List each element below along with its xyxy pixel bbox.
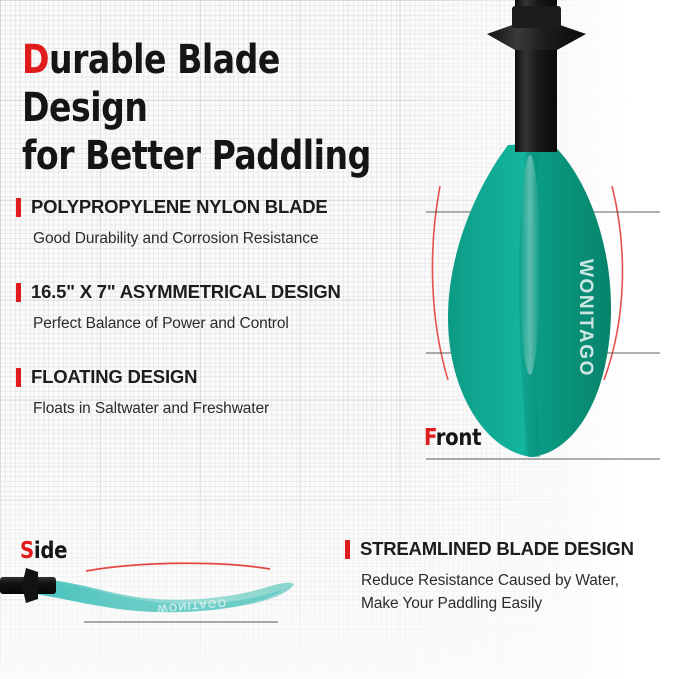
headline-line-1: urable Blade Design (22, 37, 280, 131)
front-label-rest: ront (436, 425, 481, 451)
side-measure-curve (86, 563, 270, 571)
red-bar-icon (16, 198, 21, 217)
feature-heading: 16.5" X 7" ASYMMETRICAL DESIGN (16, 281, 416, 303)
feature-subtitle: Reduce Resistance Caused by Water, Make … (361, 569, 675, 615)
feature-item-floating: FLOATING DESIGN Floats in Saltwater and … (16, 366, 416, 420)
feature-title: FLOATING DESIGN (31, 366, 197, 388)
feature-heading: POLYPROPYLENE NYLON BLADE (16, 196, 416, 218)
headline-drop-cap: D (22, 37, 49, 83)
side-view-label: Side (20, 538, 67, 564)
feature-subtitle: Perfect Balance of Power and Control (33, 312, 416, 335)
side-blade-brand-text: WONITAGO (157, 596, 228, 614)
page-title: Durable Blade Design for Better Paddling (22, 36, 390, 180)
headline-line-2: for Better Paddling (22, 132, 390, 180)
feature-subtitle: Floats in Saltwater and Freshwater (33, 397, 416, 420)
red-bar-icon (16, 283, 21, 302)
shaft-upper-band (512, 6, 561, 28)
front-view-label: Front (424, 425, 481, 451)
feature-heading: STREAMLINED BLADE DESIGN (345, 538, 675, 560)
feature-item-polypropylene: POLYPROPYLENE NYLON BLADE Good Durabilit… (16, 196, 416, 250)
feature-title: STREAMLINED BLADE DESIGN (360, 538, 634, 560)
feature-title: 16.5" X 7" ASYMMETRICAL DESIGN (31, 281, 341, 303)
side-label-drop-cap: S (20, 538, 34, 564)
feature-heading: FLOATING DESIGN (16, 366, 416, 388)
infographic-page: Durable Blade Design for Better Paddling… (0, 0, 679, 679)
red-bar-icon (345, 540, 350, 559)
feature-item-streamlined: STREAMLINED BLADE DESIGN Reduce Resistan… (345, 538, 675, 615)
side-ferrule-collar (22, 568, 38, 603)
feature-title: POLYPROPYLENE NYLON BLADE (31, 196, 328, 218)
feature-item-asymmetrical: 16.5" X 7" ASYMMETRICAL DESIGN Perfect B… (16, 281, 416, 335)
blade-brand-text: WONITAGO (575, 259, 596, 377)
front-label-drop-cap: F (424, 425, 436, 451)
red-bar-icon (16, 368, 21, 387)
side-label-rest: ide (34, 538, 67, 564)
measure-curve-left (432, 186, 448, 380)
blade-highlight (520, 155, 540, 375)
feature-subtitle: Good Durability and Corrosion Resistance (33, 227, 416, 250)
feature-subtitle-line-2: Make Your Paddling Easily (361, 592, 675, 615)
feature-subtitle-line-1: Reduce Resistance Caused by Water, (361, 569, 675, 592)
paddle-front-view: WONITAGO (404, 0, 679, 470)
feature-list: POLYPROPYLENE NYLON BLADE Good Durabilit… (16, 196, 416, 420)
